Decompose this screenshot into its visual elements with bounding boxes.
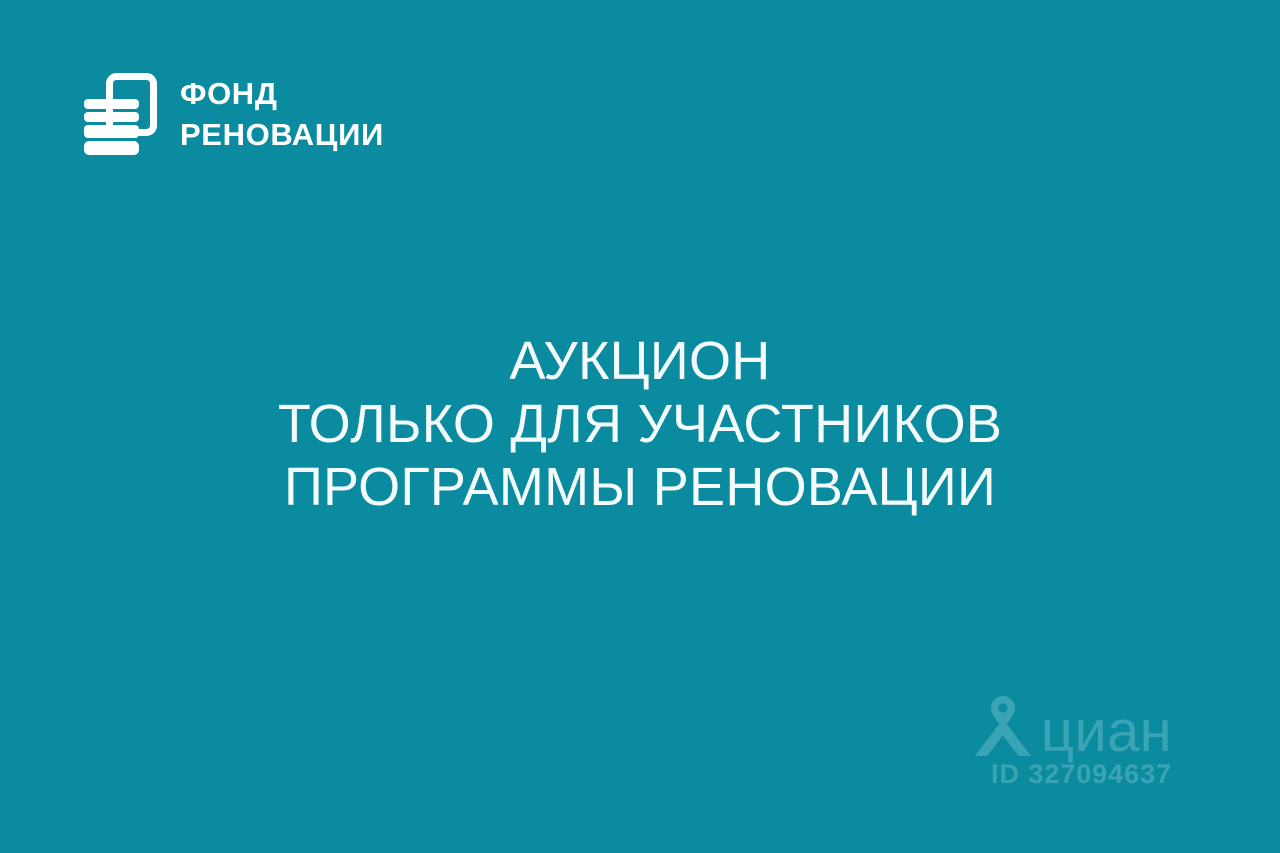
cian-pin-logo-icon	[971, 695, 1035, 757]
headline-line-2: ТОЛЬКО ДЛЯ УЧАСТНИКОВ	[0, 393, 1280, 456]
headline: АУКЦИОН ТОЛЬКО ДЛЯ УЧАСТНИКОВ ПРОГРАММЫ …	[0, 330, 1280, 520]
document-stack-icon	[82, 72, 158, 158]
cian-watermark: циан ID 327094637	[971, 695, 1172, 790]
cian-logo: циан	[971, 695, 1172, 757]
listing-poster: ФОНД РЕНОВАЦИИ АУКЦИОН ТОЛЬКО ДЛЯ УЧАСТН…	[0, 0, 1280, 853]
cian-wordmark: циан	[1041, 708, 1172, 757]
headline-line-1: АУКЦИОН	[0, 330, 1280, 393]
brand-wordmark-line-2: РЕНОВАЦИИ	[180, 115, 384, 156]
brand-wordmark: ФОНД РЕНОВАЦИИ	[180, 74, 384, 156]
headline-line-3: ПРОГРАММЫ РЕНОВАЦИИ	[0, 456, 1280, 519]
brand-wordmark-line-1: ФОНД	[180, 74, 384, 115]
brand-logo: ФОНД РЕНОВАЦИИ	[82, 72, 384, 158]
cian-listing-id: ID 327094637	[971, 759, 1172, 790]
